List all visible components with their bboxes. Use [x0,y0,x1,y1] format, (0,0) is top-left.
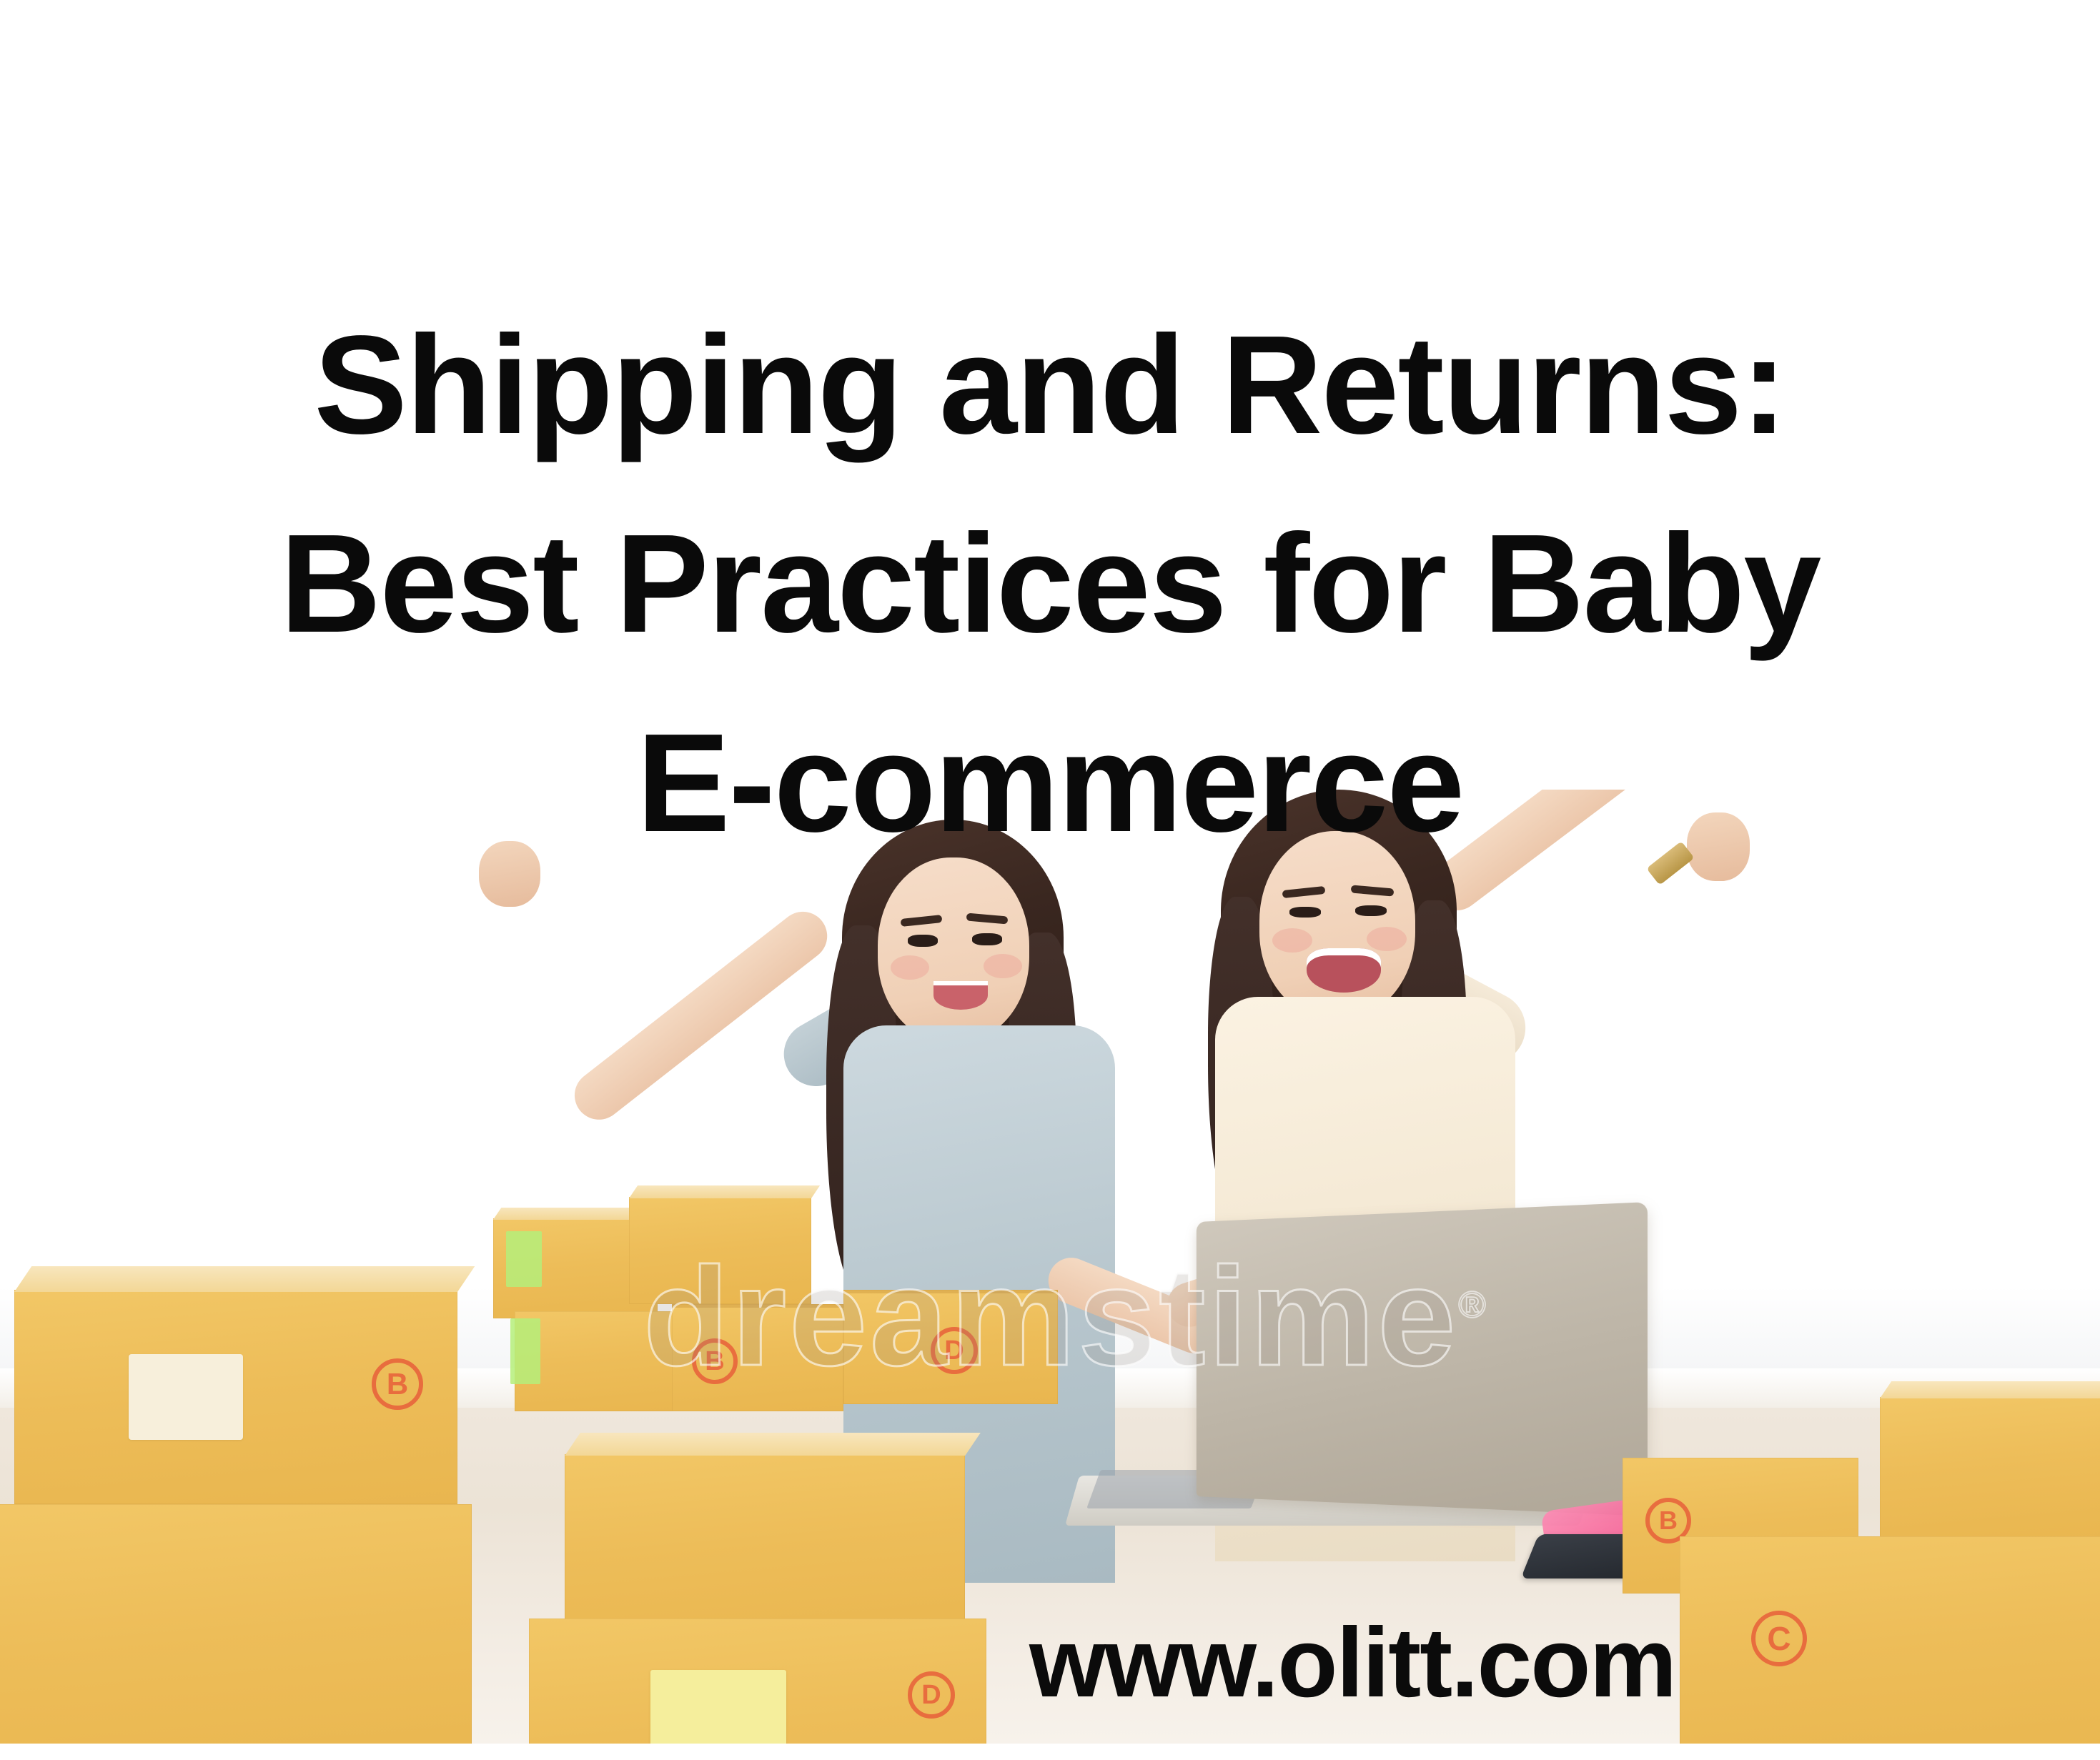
person-left-eye-right [972,933,1002,945]
person-right-mouth [1307,948,1381,993]
website-url[interactable]: www.olitt.com [1029,1606,1675,1720]
box-stamp-B-left: B [372,1358,423,1410]
box-seam [672,1304,843,1308]
box-lid [1880,1381,2100,1398]
person-right-eye-right [1355,905,1387,916]
box-lid [565,1433,981,1456]
green-tape [506,1231,542,1287]
box-face [629,1197,811,1304]
box-right-front-stamped: C [1680,1536,2100,1744]
person-left-eye-left [908,935,938,947]
box-back-right-stamped: D [843,1290,1058,1404]
box-face [0,1504,472,1744]
headline-line-2: Best Practices for Baby [0,484,2100,683]
person-right-eye-left [1289,907,1321,918]
box-stamp-D-center: D [908,1671,955,1719]
green-tape [510,1318,540,1384]
box-stamp-D-back: D [931,1327,978,1374]
laptop-screen-lid [1197,1202,1648,1516]
bottom-white-strip [0,1744,2100,1760]
person-right-cheek-left [1272,928,1312,953]
person-left-mouth [933,981,988,1010]
box-center-front: D [529,1619,986,1744]
person-left-raised-arm [565,902,837,1129]
box-seam [843,1290,1058,1293]
yellow-label [650,1670,786,1744]
headline-line-1: Shipping and Returns: [0,286,2100,484]
poster-canvas: Shipping and Returns: Best Practices for… [0,0,2100,1760]
box-stamp-C-right: C [1751,1611,1807,1666]
box-back-left-mid [629,1197,811,1304]
box-right-back-top [1880,1397,2100,1540]
box-back-middle-stamped: B [672,1304,843,1411]
headline-line-3: E-commerce [0,684,2100,883]
box-lid [14,1266,475,1292]
box-left-lower [0,1504,472,1744]
person-right-cheek-right [1367,927,1407,951]
person-left-cheek-right [984,954,1022,978]
box-stamp-B-back: B [692,1338,738,1384]
person-left-cheek-left [891,955,929,980]
box-face [1880,1397,2100,1540]
box-face [1680,1536,2100,1744]
person-left-face [878,857,1029,1042]
box-lid [629,1185,820,1198]
hero-photo: dreamstime® B [0,790,2100,1744]
shipping-label [129,1354,243,1440]
box-left-upper: B [14,1290,457,1504]
page-title: Shipping and Returns: Best Practices for… [0,286,2100,883]
